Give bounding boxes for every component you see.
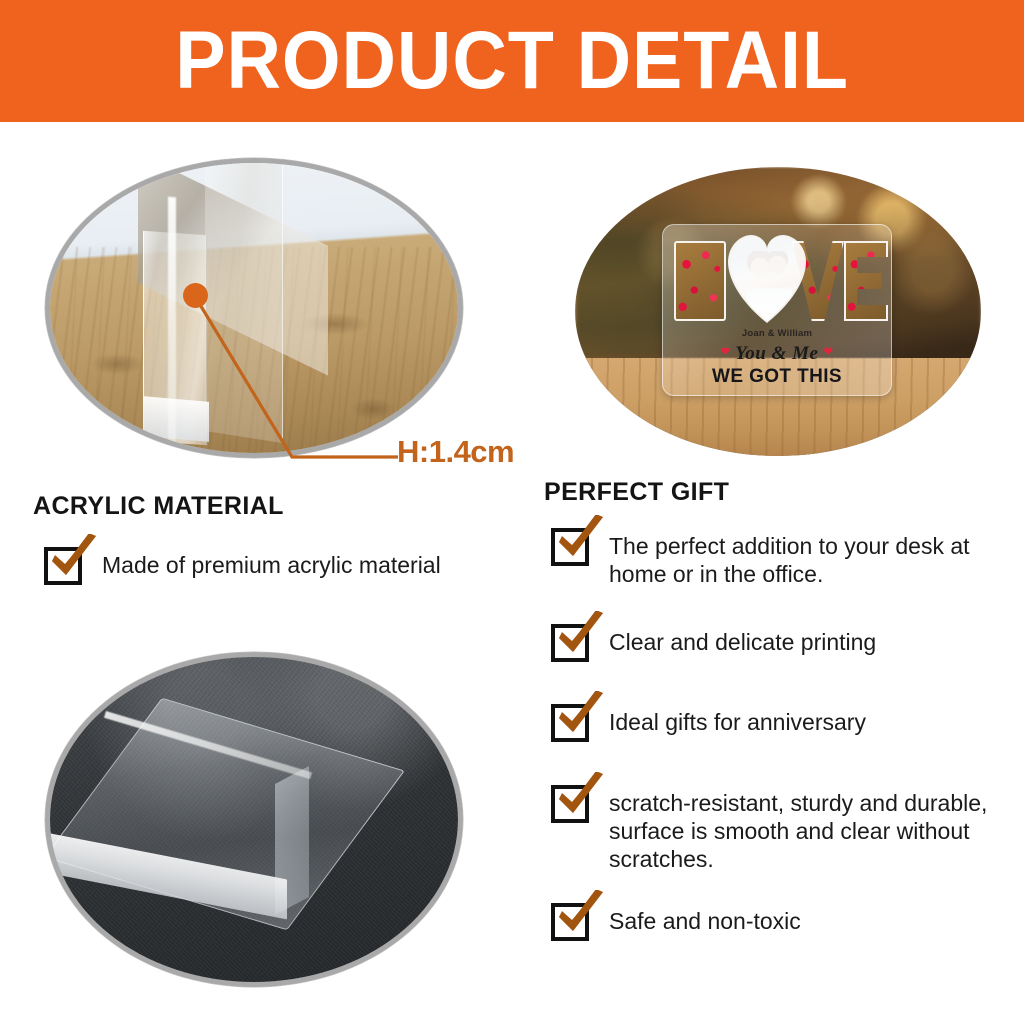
heart-frame-outline (728, 235, 806, 323)
checkmark-icon (553, 772, 609, 824)
list-item-label: Clear and delicate printing (609, 624, 876, 656)
checkbox-checked[interactable] (551, 903, 589, 941)
heart-glyph-left: ❤ (721, 346, 731, 358)
plaque-script-line: ❤ You & Me ❤ (663, 343, 891, 365)
list-item: Ideal gifts for anniversary (551, 704, 1011, 742)
love-lettering (672, 231, 886, 325)
dimension-marker-dot (183, 283, 208, 308)
checkmark-icon (553, 611, 609, 663)
checkbox-checked[interactable] (551, 785, 589, 823)
letter-l (674, 241, 726, 321)
plaque-script-text: You & Me (735, 343, 818, 364)
list-item: Safe and non-toxic (551, 903, 1011, 941)
checkbox-checked[interactable] (551, 704, 589, 742)
section-heading-perfect-gift: PERFECT GIFT (544, 478, 729, 507)
checkbox-checked[interactable] (551, 624, 589, 662)
checkmark-icon (553, 890, 609, 942)
love-plaque-photo: Joan & William ❤ You & Me ❤ WE GOT THIS (575, 167, 981, 456)
list-item: scratch-resistant, sturdy and durable, s… (551, 785, 1011, 873)
list-item-label: The perfect addition to your desk at hom… (609, 528, 1011, 588)
list-item-label: Ideal gifts for anniversary (609, 704, 866, 736)
section-heading-acrylic-material: ACRYLIC MATERIAL (33, 492, 284, 521)
list-item-label: Made of premium acrylic material (102, 547, 441, 579)
product-detail-infographic: PRODUCT DETAIL H:1.4cm (0, 0, 1024, 1024)
header-banner: PRODUCT DETAIL (0, 0, 1024, 122)
list-item-label: Safe and non-toxic (609, 903, 801, 935)
checkmark-icon (553, 515, 609, 567)
height-dimension-label: H:1.4cm (397, 434, 514, 470)
wood-knot (90, 353, 144, 375)
plaque-names: Joan & William (663, 328, 891, 339)
checkmark-icon (553, 691, 609, 743)
acrylic-plaque: Joan & William ❤ You & Me ❤ WE GOT THIS (662, 224, 892, 396)
love-plaque-scene: Joan & William ❤ You & Me ❤ WE GOT THIS (575, 167, 981, 456)
letter-e (844, 241, 888, 321)
acrylic-block-scene (50, 657, 458, 982)
acrylic-block-photo (45, 652, 463, 987)
plaque-motto: WE GOT THIS (663, 366, 891, 388)
checkbox-checked[interactable] (44, 547, 82, 585)
list-item: Made of premium acrylic material (44, 547, 514, 585)
checkmark-icon (46, 534, 102, 586)
list-item-label: scratch-resistant, sturdy and durable, s… (609, 785, 1011, 873)
list-item: Clear and delicate printing (551, 624, 1011, 662)
page-title: PRODUCT DETAIL (175, 20, 849, 102)
heart-glyph-right: ❤ (824, 346, 834, 358)
list-item: The perfect addition to your desk at hom… (551, 528, 1011, 588)
checkbox-checked[interactable] (551, 528, 589, 566)
